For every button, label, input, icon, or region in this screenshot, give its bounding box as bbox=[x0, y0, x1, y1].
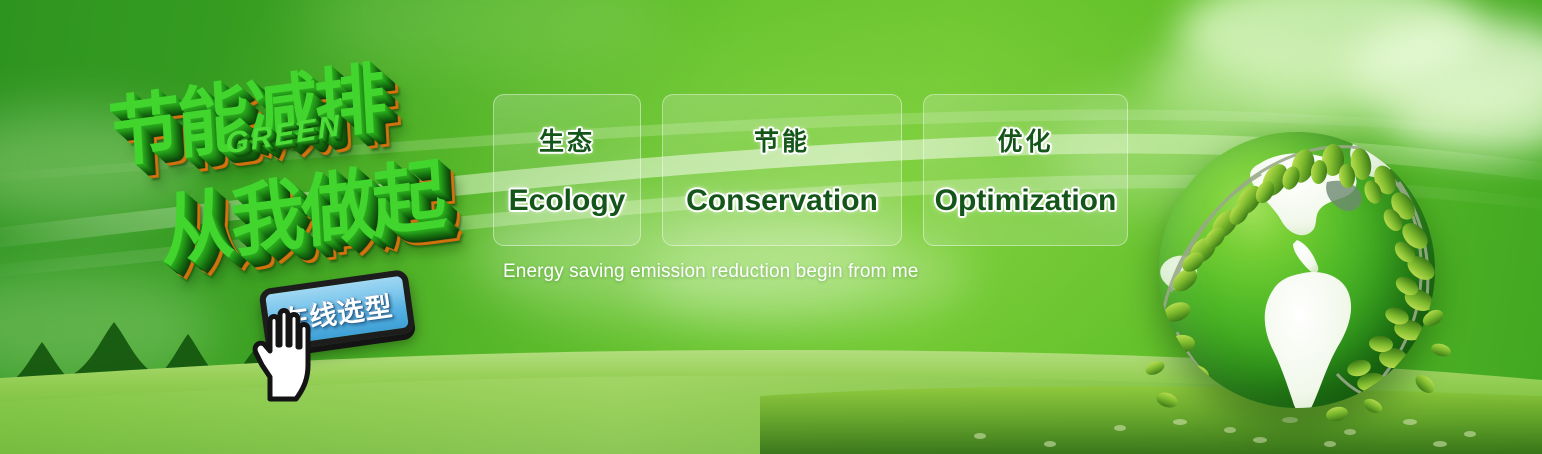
globe-detail bbox=[1141, 122, 1451, 432]
feature-card-optimization[interactable]: 优化 Optimization bbox=[923, 94, 1128, 246]
banner-tagline: Energy saving emission reduction begin f… bbox=[503, 261, 918, 283]
feature-card-en-label: Optimization bbox=[935, 184, 1117, 218]
cloud-shape bbox=[0, 268, 220, 388]
hero-banner: 节能减排 GREEN 从我做起 在线选型 bbox=[0, 0, 1542, 454]
leaf-covered-earth-globe bbox=[1141, 122, 1451, 432]
hand-pointer-cursor bbox=[244, 307, 328, 403]
feature-cards: 生态 Ecology 节能 Conservation 优化 Optimizati… bbox=[493, 94, 1128, 246]
feature-card-cn-label: 节能 bbox=[754, 122, 810, 158]
headline-logo-3d: 节能减排 GREEN 从我做起 bbox=[90, 25, 492, 276]
feature-card-conservation[interactable]: 节能 Conservation bbox=[662, 94, 902, 246]
feature-card-en-label: Conservation bbox=[686, 184, 878, 218]
cloud-shape bbox=[1340, 18, 1542, 126]
feature-card-en-label: Ecology bbox=[509, 184, 626, 218]
feature-card-ecology[interactable]: 生态 Ecology bbox=[493, 94, 641, 246]
feature-card-cn-label: 生态 bbox=[539, 122, 595, 158]
feature-card-cn-label: 优化 bbox=[997, 122, 1053, 158]
cloud-shape bbox=[1150, 34, 1360, 126]
cloud-shape bbox=[1180, 0, 1480, 92]
